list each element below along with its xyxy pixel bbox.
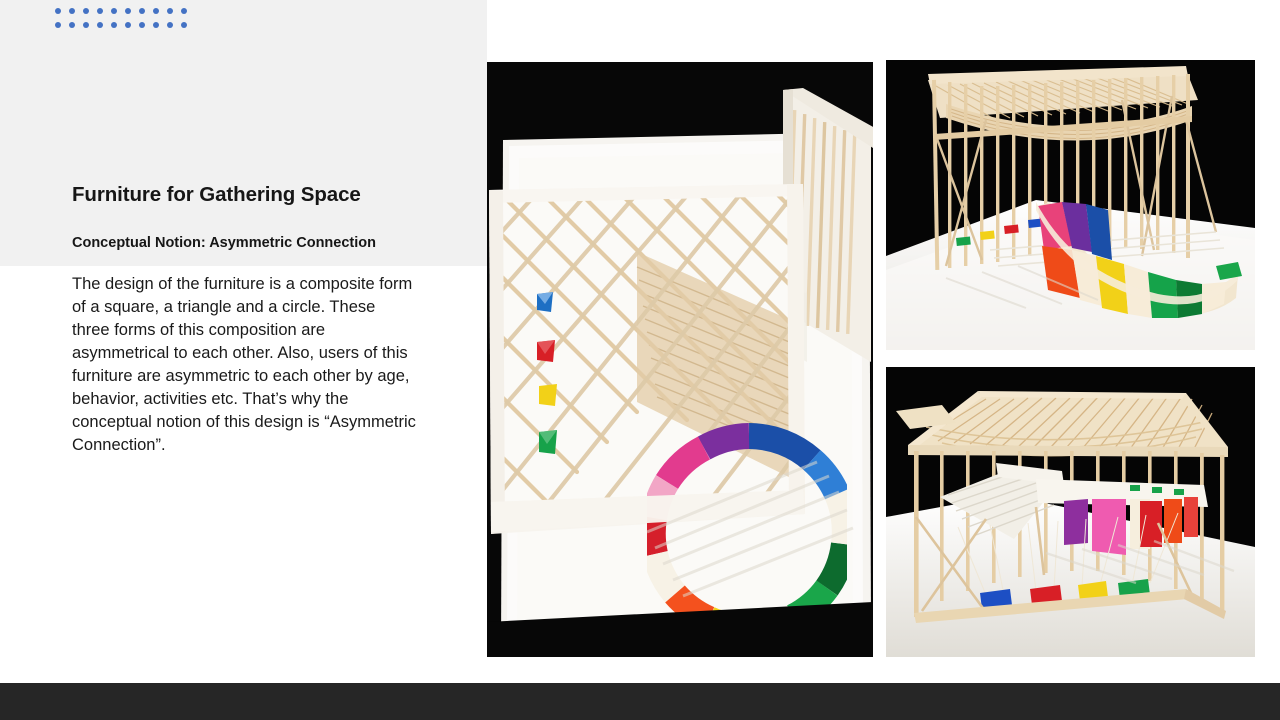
model-photo-top-view-graphic <box>487 62 873 657</box>
dot <box>153 22 159 28</box>
marker-green <box>539 430 557 454</box>
model-photo-interior-view-graphic <box>886 367 1255 657</box>
model-photo-top-view <box>487 62 873 657</box>
dot <box>167 8 173 14</box>
dot <box>167 22 173 28</box>
footer-bar <box>0 683 1280 720</box>
dot-row <box>55 8 187 14</box>
dot-grid-decoration <box>55 8 187 28</box>
slide-subtitle: Conceptual Notion: Asymmetric Connection <box>72 234 417 254</box>
dot <box>97 8 103 14</box>
marker-blue <box>537 292 553 312</box>
dot <box>125 8 131 14</box>
dot <box>55 8 61 14</box>
dot <box>83 22 89 28</box>
dot <box>181 22 187 28</box>
dot <box>69 8 75 14</box>
dot <box>153 8 159 14</box>
text-column: Furniture for Gathering Space Conceptual… <box>72 183 417 457</box>
dot <box>111 8 117 14</box>
model-photo-perspective-pavilion <box>886 60 1255 350</box>
dot <box>139 8 145 14</box>
dot <box>181 8 187 14</box>
dot <box>125 22 131 28</box>
dot <box>83 8 89 14</box>
model-photo-perspective-pavilion-graphic <box>886 60 1255 350</box>
dot <box>69 22 75 28</box>
marker-red <box>537 340 555 362</box>
slide-canvas: Furniture for Gathering Space Conceptual… <box>0 0 1280 720</box>
slide-title: Furniture for Gathering Space <box>72 183 417 208</box>
dot <box>97 22 103 28</box>
model-photo-interior-view <box>886 367 1255 657</box>
marker-yellow <box>539 384 557 406</box>
slide-body-text: The design of the furniture is a composi… <box>72 273 417 456</box>
dot <box>111 22 117 28</box>
dot-row <box>55 22 187 28</box>
dot <box>55 22 61 28</box>
dot <box>139 22 145 28</box>
